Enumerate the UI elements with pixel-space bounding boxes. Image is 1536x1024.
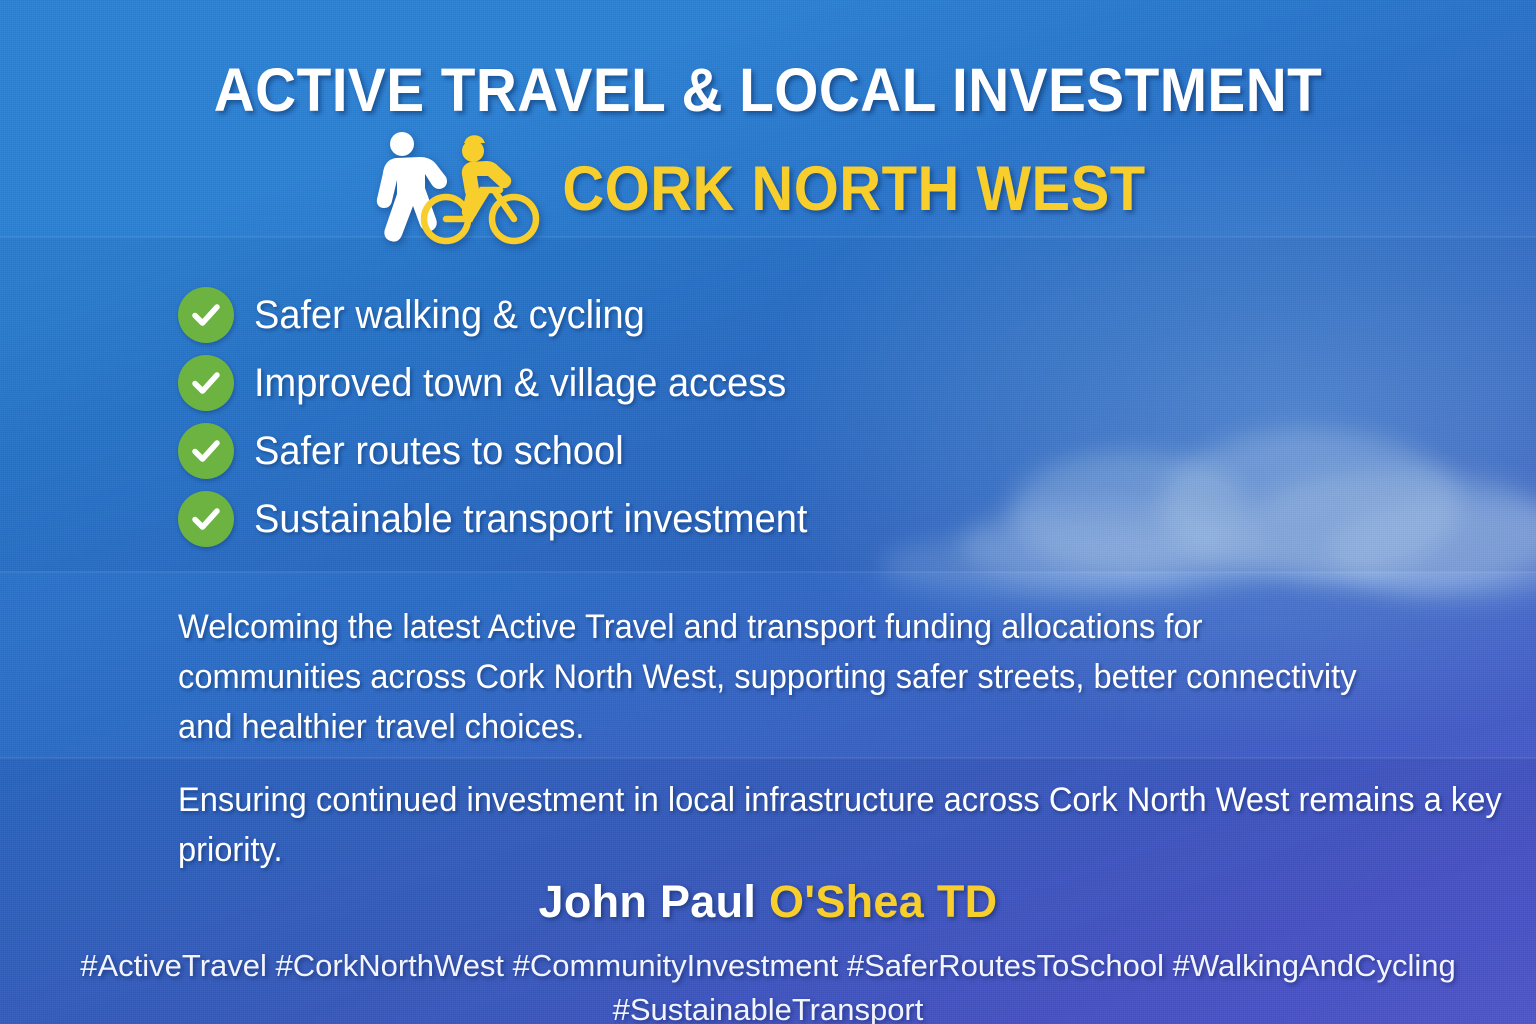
check-circle-icon: [178, 355, 234, 411]
list-item: Safer walking & cycling: [178, 281, 837, 349]
poster-canvas: ACTIVE TRAVEL & LOCAL INVESTMENT: [0, 0, 1536, 1024]
pedestrian-walking-icon: [376, 132, 446, 242]
list-item: Sustainable transport investment: [178, 485, 837, 553]
poster-headline: ACTIVE TRAVEL & LOCAL INVESTMENT: [54, 55, 1482, 125]
list-item-label: Safer walking & cycling: [254, 293, 645, 338]
active-travel-mode-icons: [366, 128, 541, 246]
hashtag-line: #ActiveTravel #CorkNorthWest #CommunityI…: [60, 944, 1476, 1024]
signature-line: John Paul O'Shea TD: [0, 876, 1536, 928]
body-paragraph-primary: Welcoming the latest Active Travel and t…: [178, 602, 1388, 752]
list-item-label: Improved town & village access: [254, 361, 786, 406]
benefits-list: Safer walking & cycling Improved town & …: [178, 281, 837, 553]
check-circle-icon: [178, 423, 234, 479]
signature-name: John Paul: [539, 876, 770, 927]
check-circle-icon: [178, 287, 234, 343]
body-paragraph-secondary: Ensuring continued investment in local i…: [178, 775, 1503, 875]
list-item-label: Safer routes to school: [254, 429, 624, 474]
poster-subheadline: CORK NORTH WEST: [562, 153, 1145, 225]
list-item-label: Sustainable transport investment: [254, 497, 807, 542]
check-circle-icon: [178, 491, 234, 547]
list-item: Safer routes to school: [178, 417, 837, 485]
subheadline-row: CORK NORTH WEST: [0, 128, 1536, 246]
signature-title: O'Shea TD: [769, 876, 997, 927]
list-item: Improved town & village access: [178, 349, 837, 417]
